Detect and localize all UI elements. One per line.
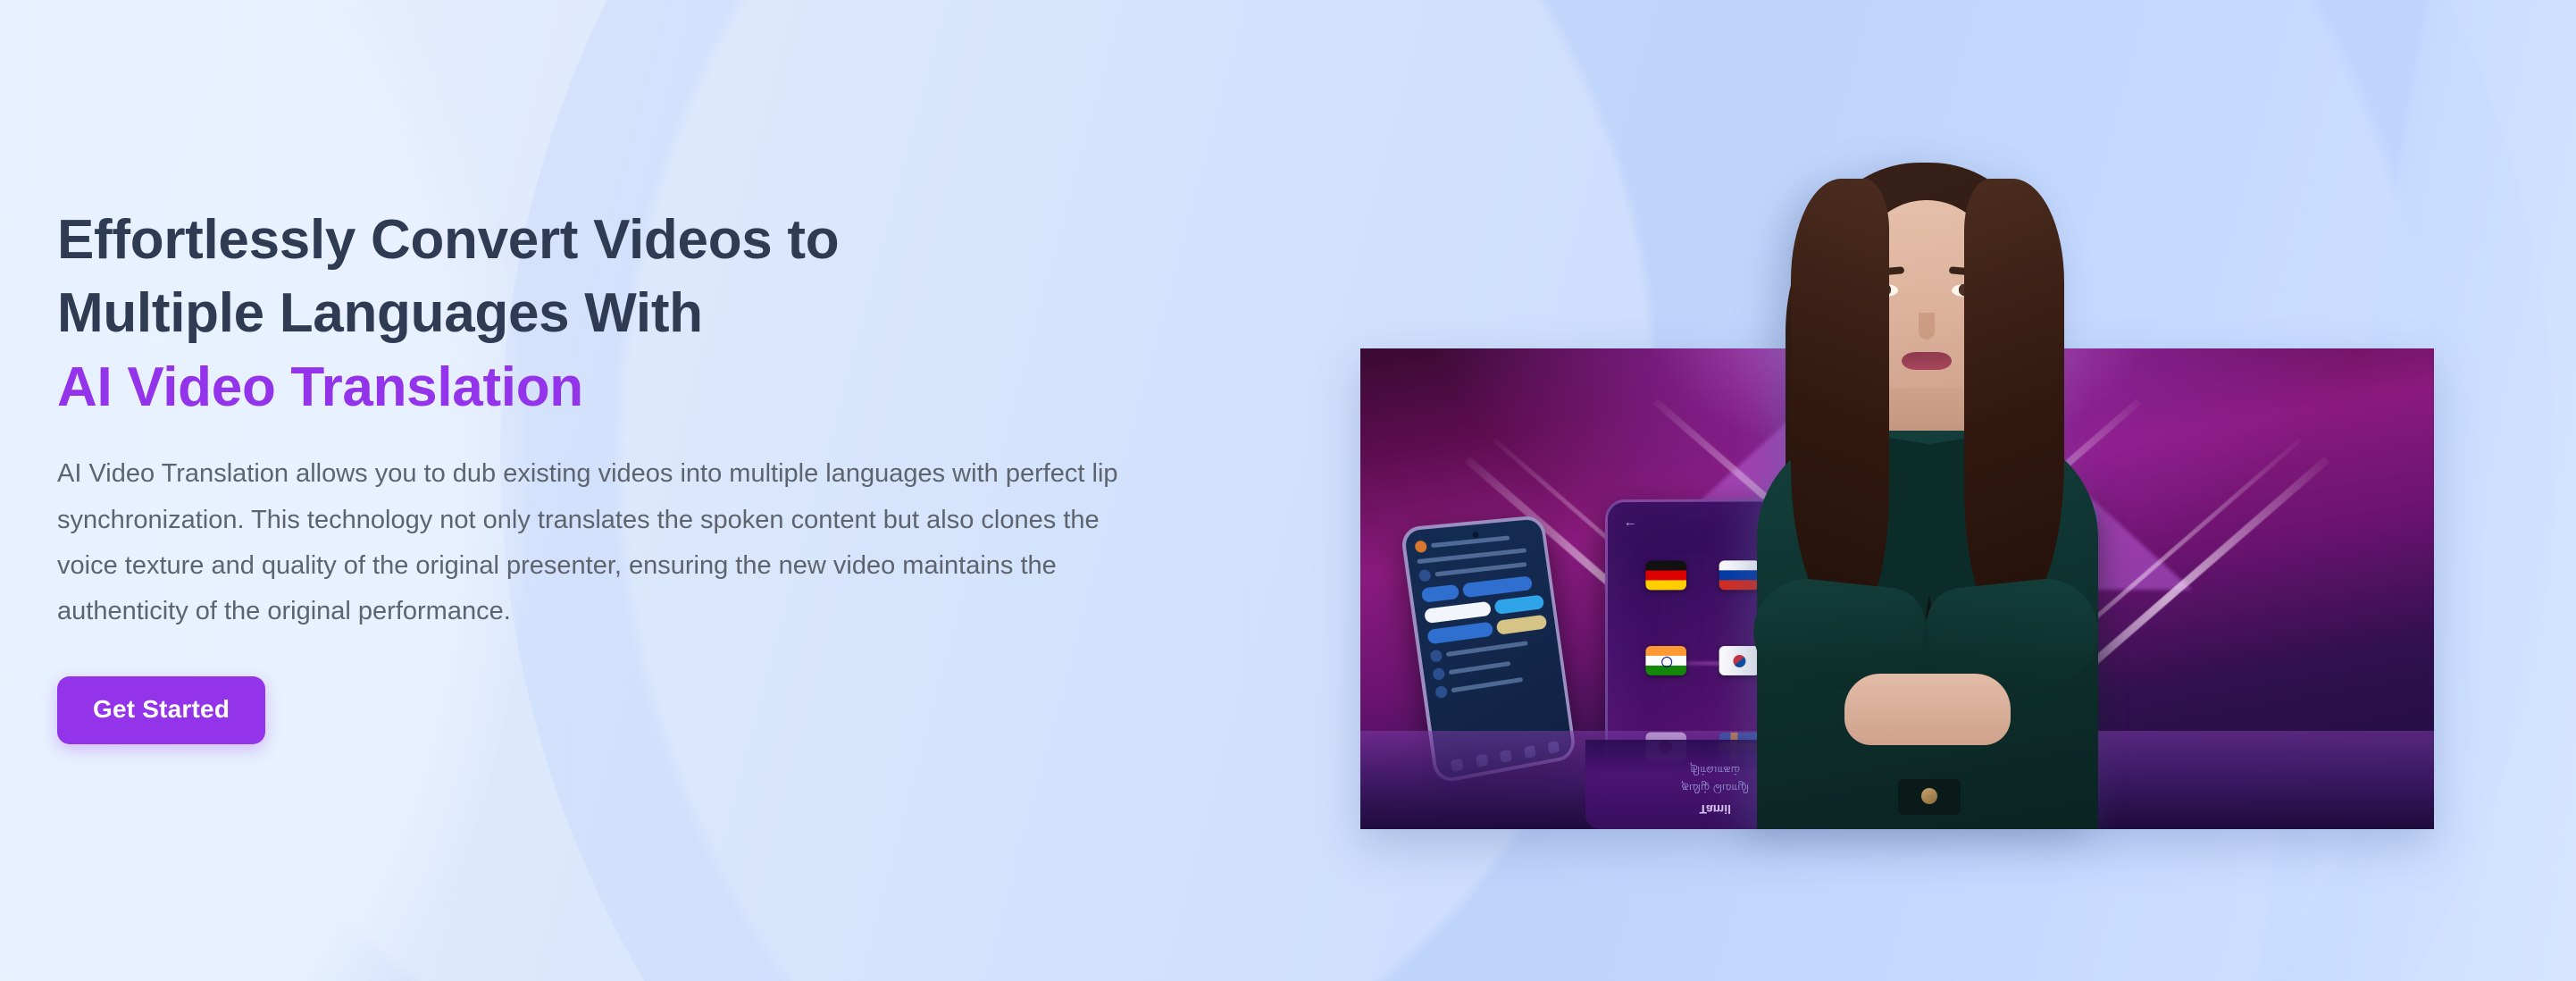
phone-text-line [1446,641,1528,657]
presenter-lips [1902,352,1952,370]
presenter-avatar [1737,163,2112,829]
phone-bullet-icon [1418,569,1432,583]
get-started-button[interactable]: Get Started [57,676,265,744]
phone-avatar-icon [1414,541,1427,553]
phone-text-line [1451,677,1524,692]
presenter-figure [1737,163,2112,829]
phone-text-line [1434,562,1526,576]
presenter-nose [1919,313,1935,340]
presenter-hair-left [1791,179,1889,625]
hero-section: Effortlessly Convert Videos to Multiple … [0,0,2576,981]
hero-copy: Effortlessly Convert Videos to Multiple … [57,204,1192,744]
presenter-hair-right [1964,179,2064,625]
headline-accent: AI Video Translation [57,351,1192,424]
flag-india [1645,647,1686,676]
phone-chip [1462,575,1533,598]
phone-chip [1494,594,1544,614]
hero-description: AI Video Translation allows you to dub e… [57,451,1142,634]
phone-bullet-icon [1432,667,1445,681]
page-title: Effortlessly Convert Videos to Multiple … [57,204,1192,424]
back-arrow-icon: ← [1624,514,1637,529]
phone-chip [1424,601,1492,624]
phone-text-line [1431,535,1510,548]
headline-line-1: Effortlessly Convert Videos to [57,204,1192,277]
presenter-hands [1844,674,2011,745]
phone-bullet-icon [1430,650,1443,663]
phone-bullet-icon [1434,685,1448,699]
headline-line-2: Multiple Languages With [57,277,1192,350]
phone-text-line [1449,661,1511,675]
presenter-belt [1898,779,1961,815]
phone-chip [1421,584,1459,603]
flag-germany [1645,560,1686,590]
phone-chip [1426,622,1493,645]
phone-chip [1496,615,1547,635]
